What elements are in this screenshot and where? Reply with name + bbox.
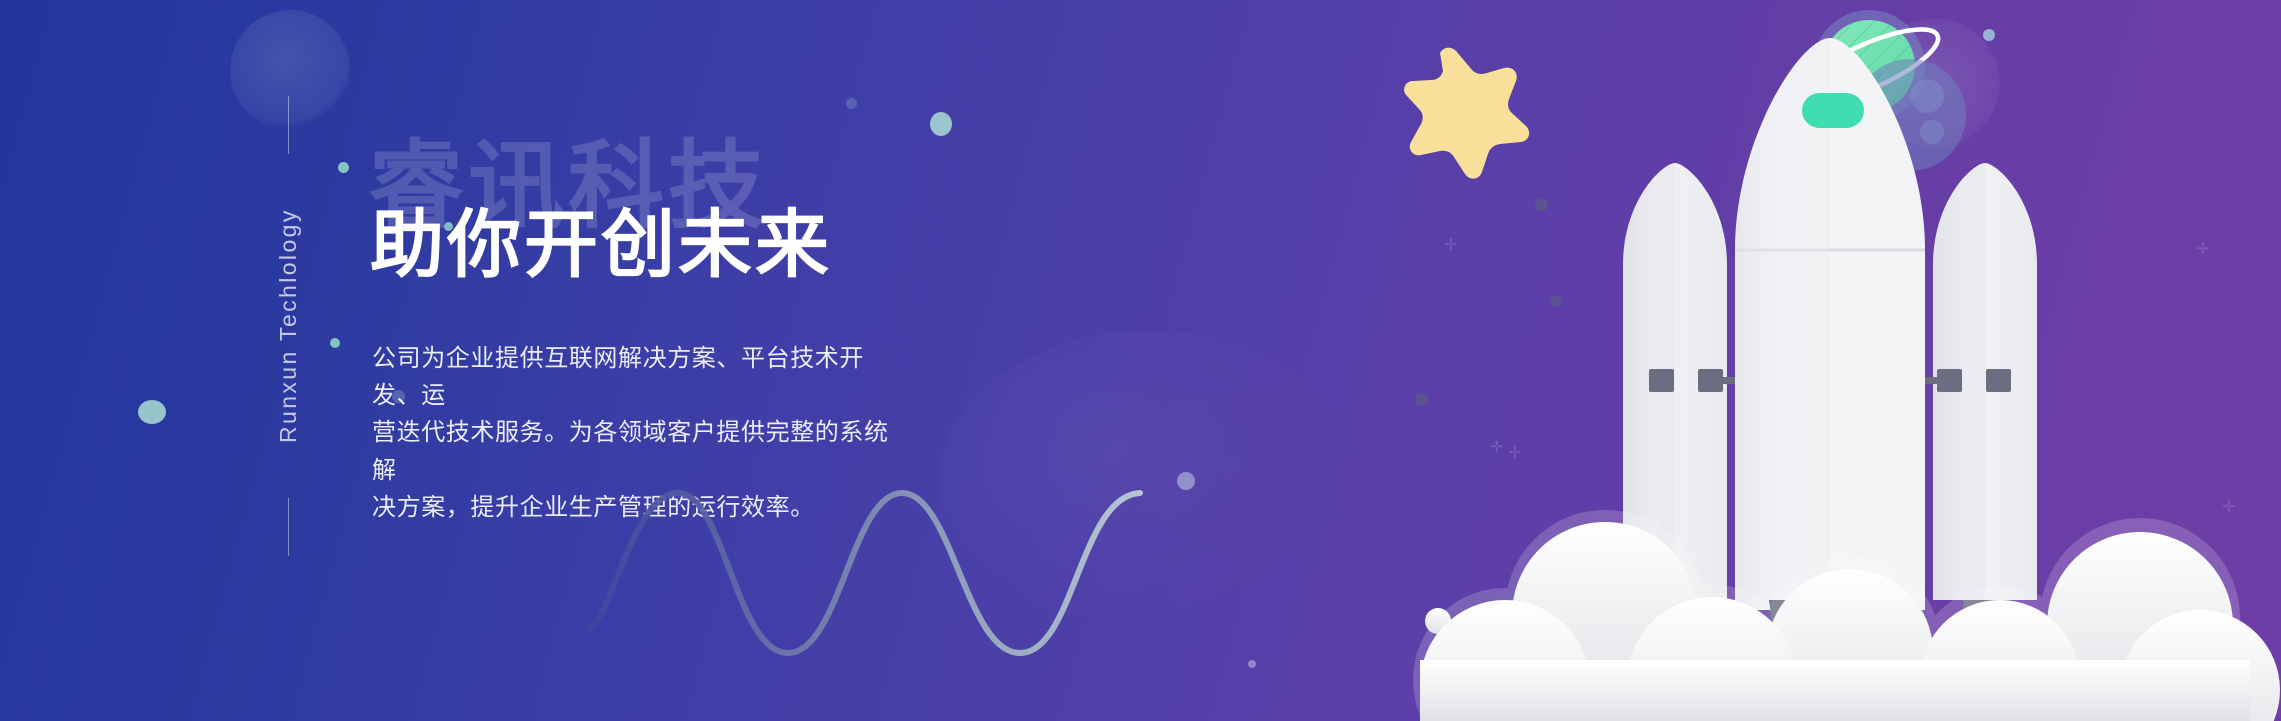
- vertical-brand: Runxun Techlology: [268, 96, 308, 556]
- vertical-brand-text: Runxun Techlology: [275, 154, 302, 498]
- decor-dot-mint-1: [138, 400, 166, 424]
- page-title: 助你开创未来: [370, 204, 832, 287]
- hero-description-line-1: 公司为企业提供互联网解决方案、平台技术开发、运: [372, 340, 912, 414]
- rocket-window-icon: [1802, 93, 1864, 128]
- vertical-rule-bottom: [288, 498, 289, 556]
- decor-dot-mint-3: [330, 338, 340, 348]
- hero-banner: ✛ ✛ ✛ ✛ ✛ Runxun Techlology 睿讯科技 助你开创未来 …: [0, 0, 2281, 721]
- rocket-illustration: [1380, 0, 2281, 721]
- decor-dot-blue-2: [846, 98, 857, 109]
- vertical-rule-top: [288, 96, 289, 154]
- star-icon: [1404, 48, 1529, 179]
- decor-dot-mint-2: [338, 162, 349, 173]
- decor-dot-mint-5: [930, 112, 952, 136]
- sine-wave-decoration: [580, 448, 1280, 688]
